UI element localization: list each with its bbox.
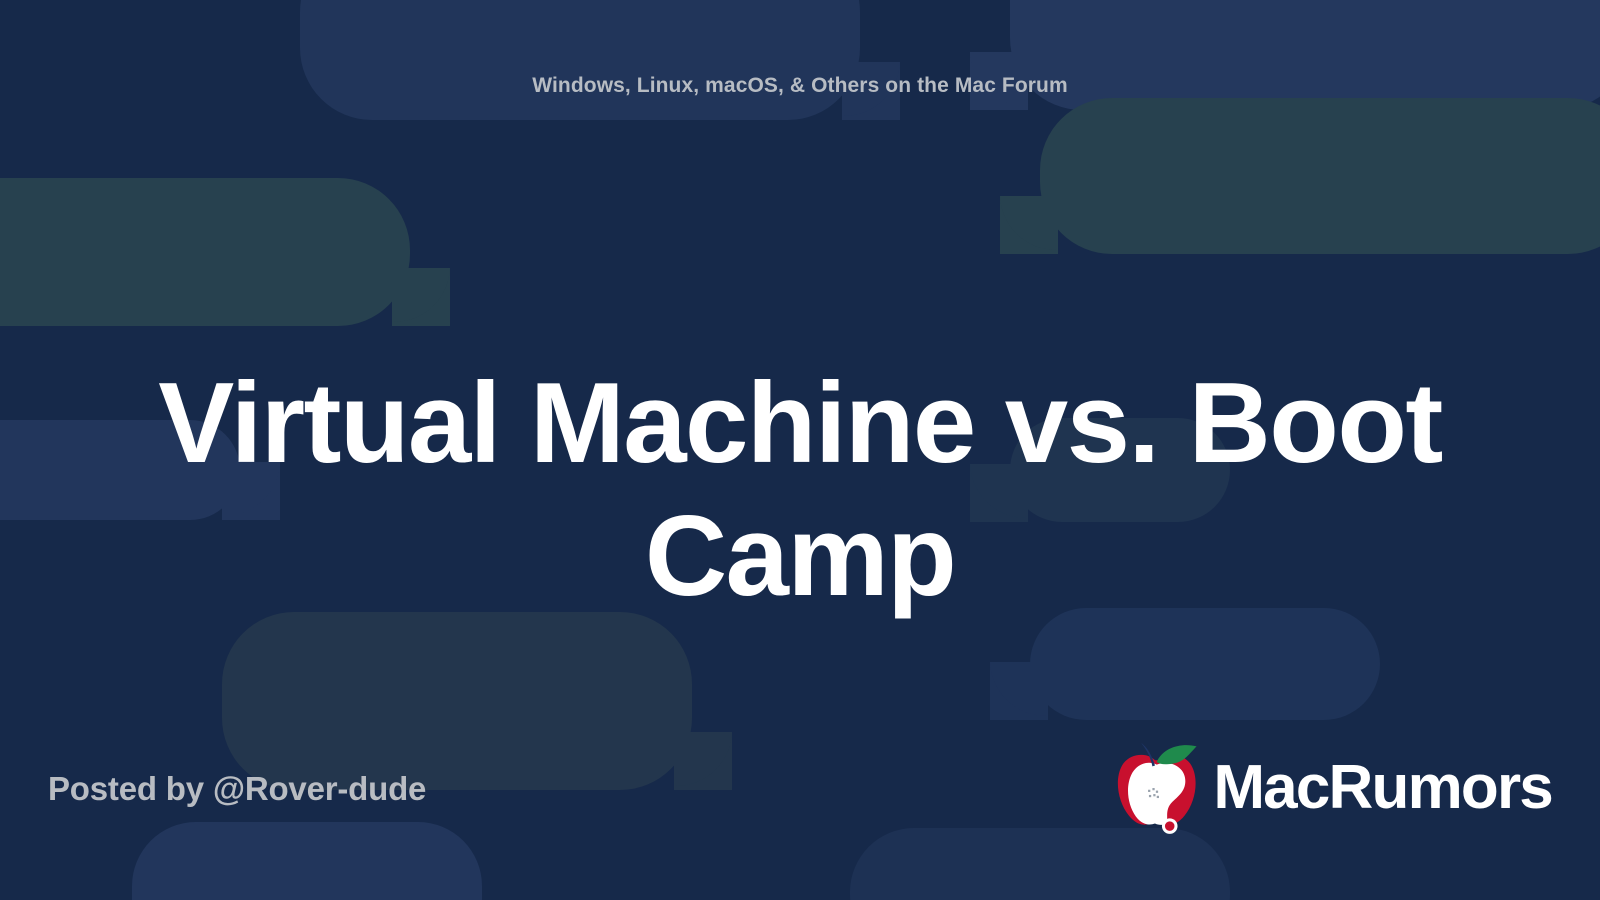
forum-breadcrumb-label: Windows, Linux, macOS, & Others on the M… xyxy=(0,74,1600,98)
macrumors-apple-logo-icon xyxy=(1103,736,1207,840)
posted-by-label: Posted by @Rover-dude xyxy=(48,770,426,808)
share-card: Windows, Linux, macOS, & Others on the M… xyxy=(0,0,1600,900)
macrumors-wordmark: MacRumors xyxy=(1213,757,1552,819)
macrumors-brand-lockup[interactable]: MacRumors xyxy=(1103,736,1552,840)
page-title: Virtual Machine vs. Boot Camp xyxy=(0,358,1600,622)
card-content: Windows, Linux, macOS, & Others on the M… xyxy=(0,0,1600,900)
